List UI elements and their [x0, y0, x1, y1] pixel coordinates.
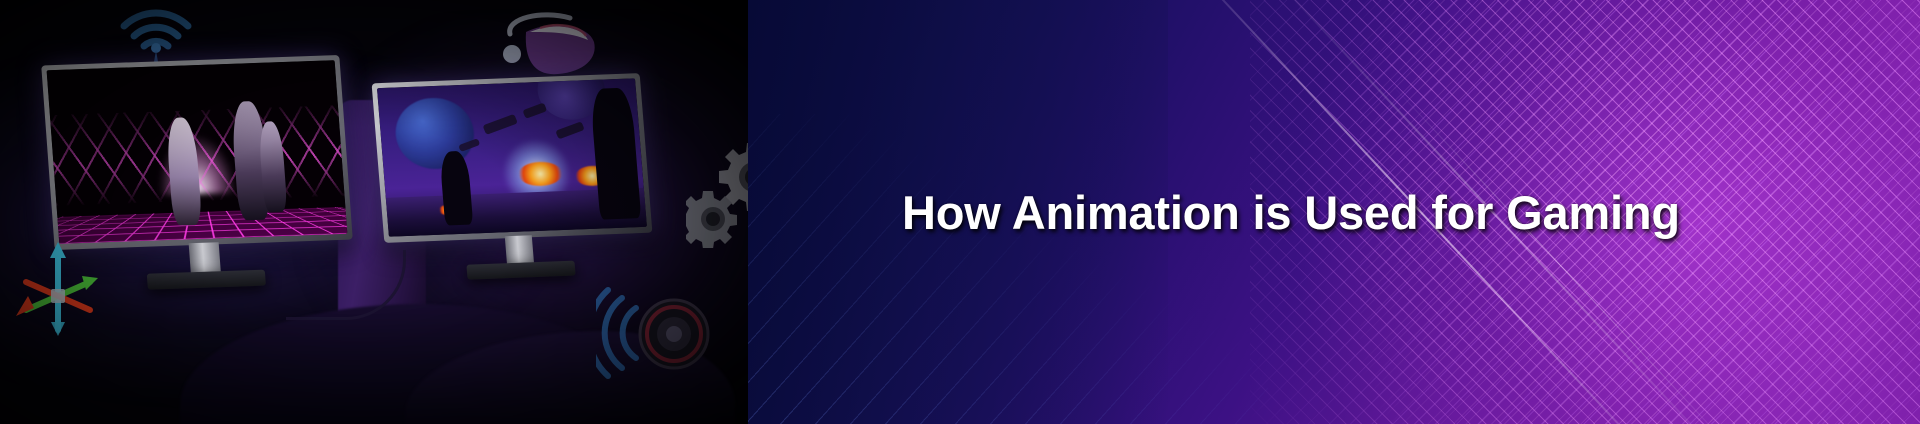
headline-panel: How Animation is Used for Gaming: [748, 0, 1920, 424]
hero-banner: How Animation is Used for Gaming: [0, 0, 1920, 424]
gaming-photo-collage: [0, 0, 748, 424]
panel-vignette: [0, 0, 748, 424]
page-title: How Animation is Used for Gaming: [902, 189, 1680, 236]
headline-container: How Animation is Used for Gaming: [748, 0, 1920, 424]
